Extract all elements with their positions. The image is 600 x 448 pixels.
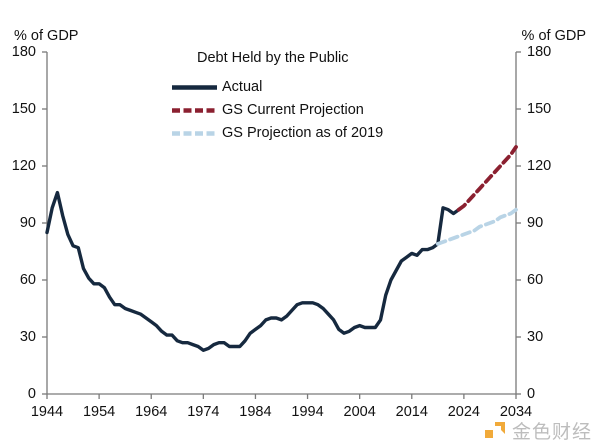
x-axis-tick-label: 1974 (187, 404, 219, 420)
x-axis-tick-label: 2014 (396, 404, 428, 420)
x-axis-tick-label: 1954 (83, 404, 115, 420)
y-axis-tick-label-right: 180 (527, 44, 551, 60)
chart-container: % of GDP % of GDP Debt Held by the Publi… (0, 0, 600, 448)
y-axis-tick-label-left: 120 (0, 158, 36, 174)
y-axis-tick-label-left: 60 (0, 272, 36, 288)
series-line (438, 210, 516, 244)
x-axis-tick-label: 1944 (31, 404, 63, 420)
plot-area (0, 0, 600, 448)
y-axis-tick-label-right: 30 (527, 329, 543, 345)
y-axis-tick-label-right: 60 (527, 272, 543, 288)
x-axis-tick-label: 1984 (239, 404, 271, 420)
x-axis-tick-label: 2024 (448, 404, 480, 420)
y-axis-tick-label-right: 120 (527, 158, 551, 174)
y-axis-tick-label-left: 150 (0, 101, 36, 117)
x-axis-tick-label: 1994 (291, 404, 323, 420)
y-axis-tick-label-right: 90 (527, 215, 543, 231)
y-axis-tick-label-right: 0 (527, 386, 535, 402)
watermark-text: 金色财经 (512, 417, 592, 444)
watermark-logo-icon (485, 420, 507, 442)
y-axis-tick-label-left: 30 (0, 329, 36, 345)
y-axis-tick-label-right: 150 (527, 101, 551, 117)
y-axis-tick-label-left: 90 (0, 215, 36, 231)
y-axis-tick-label-left: 0 (0, 386, 36, 402)
x-axis-tick-label: 2004 (344, 404, 376, 420)
series-line (459, 147, 516, 210)
watermark: 金色财经 (485, 417, 592, 444)
axis-lines (42, 52, 521, 399)
x-axis-tick-label: 1964 (135, 404, 167, 420)
series-lines (47, 147, 516, 350)
series-line (47, 193, 459, 351)
y-axis-tick-label-left: 180 (0, 44, 36, 60)
